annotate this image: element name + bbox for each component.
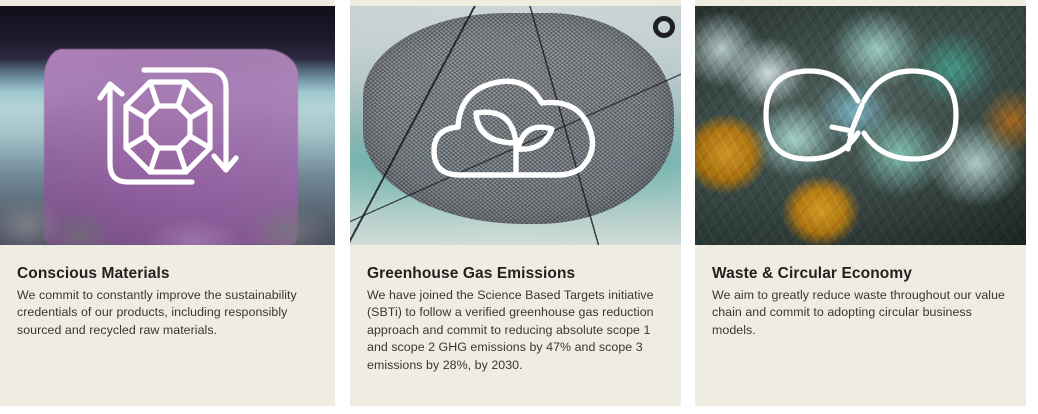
card-title: Conscious Materials bbox=[17, 265, 318, 284]
sustainability-pillars-board: Conscious Materials We commit to constan… bbox=[0, 0, 1038, 414]
card-description: We have joined the Science Based Targets… bbox=[367, 287, 664, 375]
card-body-greenhouse-gas-emissions: Greenhouse Gas Emissions We have joined … bbox=[350, 245, 681, 375]
photo-recycled-glass bbox=[695, 6, 1026, 245]
photo-metal-ring bbox=[653, 16, 675, 38]
photo-purple-crystal bbox=[0, 6, 335, 245]
card-media-waste-circular-economy bbox=[695, 6, 1026, 245]
card-body-conscious-materials: Conscious Materials We commit to constan… bbox=[0, 245, 335, 339]
card-waste-circular-economy[interactable]: Waste & Circular Economy We aim to great… bbox=[695, 0, 1026, 406]
card-media-conscious-materials bbox=[0, 6, 335, 245]
photo-wire-mesh bbox=[350, 6, 681, 245]
card-title: Waste & Circular Economy bbox=[712, 265, 1009, 284]
card-body-waste-circular-economy: Waste & Circular Economy We aim to great… bbox=[695, 245, 1026, 339]
card-media-greenhouse-gas-emissions bbox=[350, 6, 681, 245]
card-description: We commit to constantly improve the sust… bbox=[17, 287, 318, 340]
card-title: Greenhouse Gas Emissions bbox=[367, 265, 664, 284]
card-greenhouse-gas-emissions[interactable]: Greenhouse Gas Emissions We have joined … bbox=[350, 0, 681, 406]
card-description: We aim to greatly reduce waste throughou… bbox=[712, 287, 1009, 340]
card-conscious-materials[interactable]: Conscious Materials We commit to constan… bbox=[0, 0, 335, 406]
